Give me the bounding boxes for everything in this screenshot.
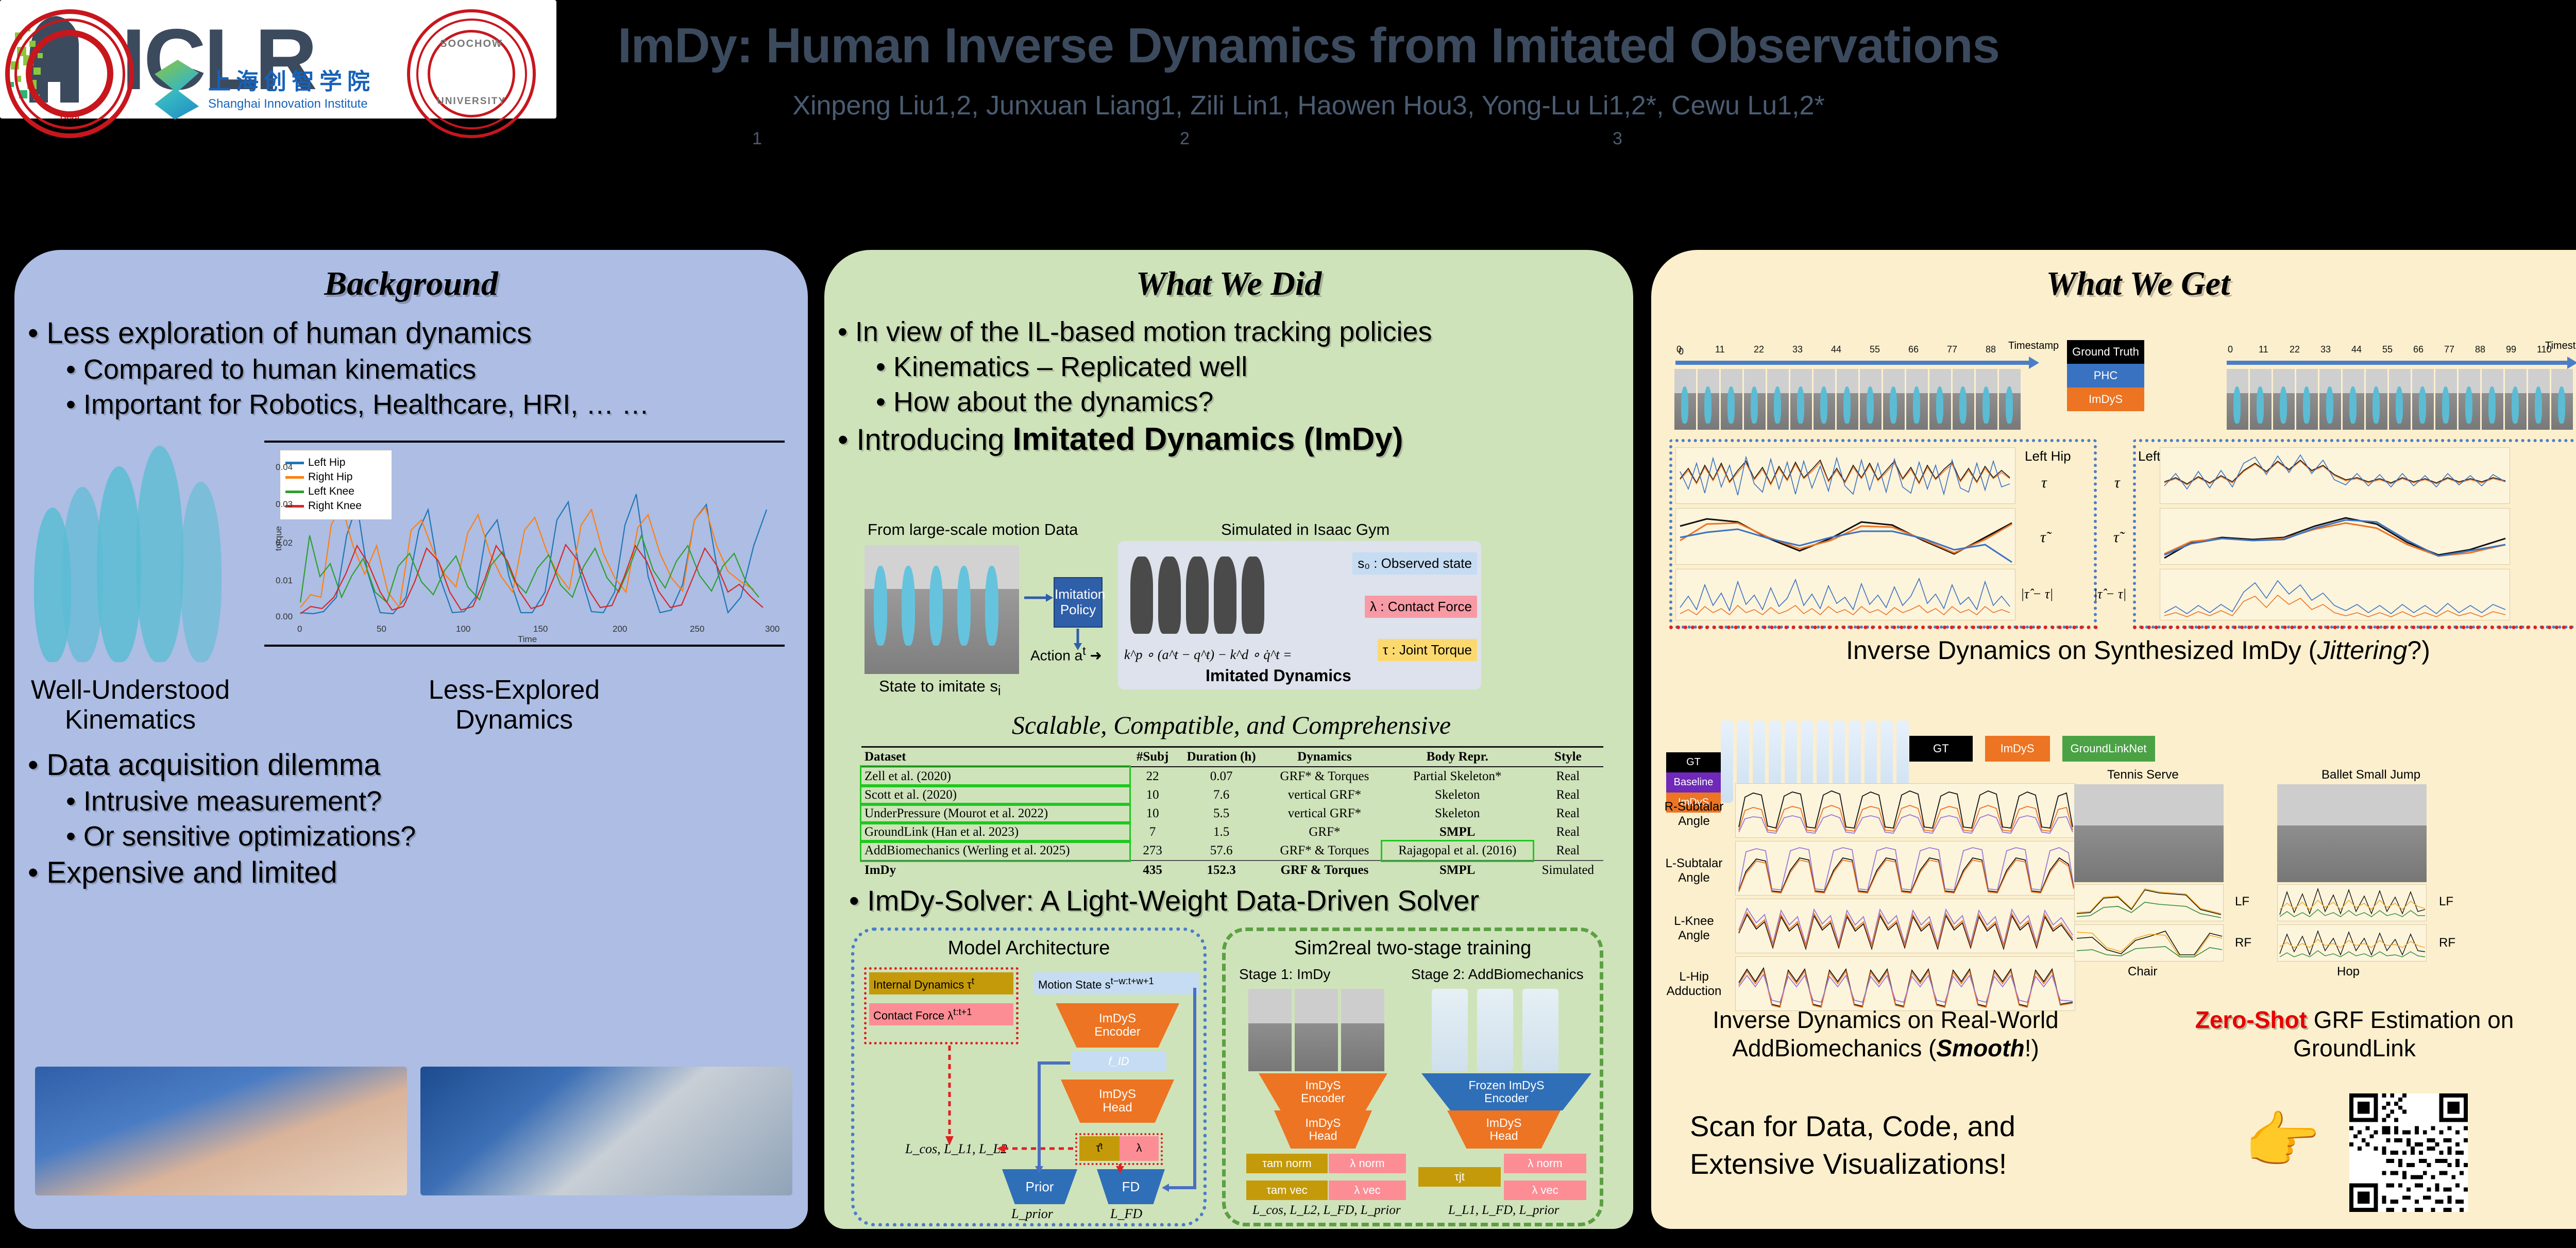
stage2-output-box: λ norm <box>1504 1154 1586 1173</box>
synthesized-caption: Inverse Dynamics on Synthesized ImDy (Ji… <box>1731 635 2545 666</box>
zero-shot-caption-line1: Zero-Shot GRF Estimation on <box>2107 1006 2576 1034</box>
soochow-logo-top: SOOCHOW <box>407 38 536 50</box>
measurement-photos <box>35 1067 792 1195</box>
timestamp-tick: 99 <box>2506 344 2516 355</box>
stage1-head-trapezoid: ImDyS Head <box>1274 1110 1372 1149</box>
stage2-head-line-2: Head <box>1490 1129 1518 1142</box>
column-header: Duration (h) <box>1176 747 1267 767</box>
zero-shot-caption: Zero-Shot GRF Estimation on GroundLink <box>2107 1006 2576 1063</box>
legend-item: Right Knee <box>285 500 386 512</box>
legend-gt: GT <box>1666 752 1721 772</box>
state-label-sub: i <box>998 684 1001 698</box>
chart-ballet-lf <box>2277 884 2427 921</box>
what-we-did-bullet-list: In view of the IL-based motion tracking … <box>824 316 1633 458</box>
affiliation-3: 3 <box>1613 129 1622 149</box>
sim2real-title: Sim2real two-stage training <box>1226 937 1600 959</box>
x-tick-label: 50 <box>377 624 386 634</box>
dynamics-caption: Less-Explored Dynamics <box>257 675 772 735</box>
list-item: Data acquisition dilemma <box>28 748 808 782</box>
chart-legend: Left Hip Right Hip Left Knee Right Knee <box>280 450 392 520</box>
cell-body-repr: Skeleton <box>1382 804 1533 823</box>
cell-style: Simulated <box>1533 861 1603 880</box>
y-tick-label: 0.01 <box>276 576 293 586</box>
stage1-output-box: λ norm <box>1329 1154 1406 1173</box>
stage-2-frames <box>1432 989 1558 1071</box>
timestamp-tick: 77 <box>1947 344 1957 355</box>
row-label-tau-tilde: τ̃ <box>2040 529 2046 546</box>
grf-row-label-lf: LF <box>2439 895 2453 909</box>
stage1-head-line-2: Head <box>1309 1129 1337 1142</box>
what-we-get-panel-title: What We Get <box>1651 264 2576 303</box>
motion-strip-right <box>2227 369 2573 430</box>
grf-row-label-rf: RF <box>2235 936 2251 950</box>
cell-subj: 273 <box>1129 841 1176 861</box>
angle-label-l-knee: L-Knee Angle <box>1663 914 1725 942</box>
real-caption-prefix: AddBiomechanics ( <box>1732 1035 1936 1061</box>
angle-label-l-subtalar: L-Subtalar Angle <box>1663 856 1725 885</box>
table-row: AddBiomechanics (Werling et al. 2025) 27… <box>861 841 1603 861</box>
poster-header: 1896 上海创智学院 Shanghai Innovation Institut… <box>0 0 2576 227</box>
intrusive-measurement-photo <box>35 1067 407 1195</box>
list-item: Kinematics – Replicated well <box>876 351 1633 383</box>
scan-callout-text: Scan for Data, Code, and Extensive Visua… <box>1690 1108 2215 1183</box>
legend-imdys: ImDyS <box>2067 387 2144 411</box>
stage2-loss-label: L_L1, L_FD, L_prior <box>1448 1203 1559 1218</box>
dataset-comparison-table: Dataset #Subj Duration (h) Dynamics Body… <box>861 746 1603 880</box>
page-title: ImDy: Human Inverse Dynamics from Imitat… <box>546 18 2071 74</box>
introducing-prefix: Introducing <box>856 423 1012 457</box>
cell-subj: 22 <box>1129 767 1176 786</box>
legend-imdys: ImDyS <box>1985 736 2050 762</box>
imdy-pipeline-diagram: From large-scale motion Data Simulated i… <box>860 515 1602 696</box>
cell-style: Real <box>1533 786 1603 804</box>
isaac-gym-simulation-box: s₀ : Observed state λ : Contact Force τ … <box>1118 541 1481 689</box>
cell-style: Real <box>1533 841 1603 861</box>
pointing-hand-icon: 👉 <box>2244 1105 2320 1177</box>
row-label-tau: τ <box>2114 474 2120 492</box>
timestamp-tick: 77 <box>2444 344 2454 355</box>
stage2-head-trapezoid: ImDyS Head <box>1447 1110 1561 1149</box>
scan-line-2: Extensive Visualizations! <box>1690 1145 2215 1183</box>
kinematics-caption: Well-Understood Kinematics <box>20 675 241 735</box>
timestamp-tick: 55 <box>2382 344 2393 355</box>
cell-dataset: AddBiomechanics (Werling et al. 2025) <box>861 841 1129 861</box>
y-axis-label: torque <box>274 526 284 551</box>
policy-line-2: Policy <box>1055 602 1101 618</box>
table-row: Zell et al. (2020) 22 0.07 GRF* & Torque… <box>861 767 1603 786</box>
real-caption-em: Smooth <box>1937 1035 2025 1061</box>
table-row: GroundLink (Han et al. 2023) 7 1.5 GRF* … <box>861 823 1603 841</box>
timeline-right-labels: 0112233445566778899110 <box>2226 344 2576 360</box>
cell-body-repr: SMPL <box>1382 823 1533 841</box>
stage2-head-line-1: ImDyS <box>1486 1117 1522 1129</box>
red-divider-right <box>2133 626 2576 629</box>
timestamp-tick: 0 <box>1676 344 1682 355</box>
timestamp-tick: 33 <box>1792 344 1803 355</box>
cell-style: Real <box>1533 823 1603 841</box>
y-tick-label: 0.03 <box>276 499 293 510</box>
motion-data-image <box>865 545 1019 674</box>
stage1-encoder-line-1: ImDyS <box>1306 1079 1341 1092</box>
cell-subj: 10 <box>1129 786 1176 804</box>
list-item: Or sensitive optimizations? <box>66 820 808 852</box>
left-hip-label: Left Hip <box>2025 448 2071 464</box>
real-caption-suffix: !) <box>2025 1035 2039 1061</box>
background-panel-title: Background <box>14 264 808 303</box>
cell-dynamics: vertical GRF* <box>1267 804 1382 823</box>
cell-dataset: GroundLink (Han et al. 2023) <box>861 823 1129 841</box>
chart-l-hip-adduction <box>1735 956 2075 1011</box>
method-legend-groundlink: GT ImDyS GroundLinkNet <box>1909 736 2155 762</box>
background-figures: Left Hip Right Hip Left Knee Right Knee … <box>25 435 798 678</box>
stage2-encoder-line-1: Frozen ImDyS <box>1469 1079 1545 1092</box>
state-label: State to imitate s <box>879 677 998 695</box>
solver-section-title: ImDy-Solver: A Light-Weight Data-Driven … <box>849 884 1479 917</box>
action-sup: t <box>1082 644 1086 657</box>
chart-ballet-rf <box>2277 924 2427 962</box>
chart-left-hip-tau <box>1675 447 2015 504</box>
table-row-imdy: ImDy 435 152.3 GRF & Torques SMPL Simula… <box>861 861 1603 880</box>
list-item: In view of the IL-based motion tracking … <box>838 316 1633 348</box>
timestamp-tick: 22 <box>1754 344 1764 355</box>
grf-tile-title-ballet: Ballet Small Jump <box>2321 768 2420 782</box>
cell-duration: 5.5 <box>1176 804 1267 823</box>
zero-shot-caption-line2: GroundLink <box>2107 1034 2576 1063</box>
timestamp-tick: 55 <box>1870 344 1880 355</box>
cell-duration: 7.6 <box>1176 786 1267 804</box>
timestamp-tick: 33 <box>2320 344 2331 355</box>
column-header: Style <box>1533 747 1603 767</box>
cell-body-repr: Rajagopal et al. (2016) <box>1382 841 1533 861</box>
y-tick-label: 0.04 <box>276 462 293 473</box>
cell-dataset: Scott et al. (2020) <box>861 786 1129 804</box>
column-header: Dynamics <box>1267 747 1382 767</box>
background-panel: Background Less exploration of human dyn… <box>14 250 808 1229</box>
soochow-logo-bottom: UNIVERSITY <box>407 96 536 107</box>
x-axis-label: Time <box>518 634 537 645</box>
column-header: #Subj <box>1129 747 1176 767</box>
list-item: Important for Robotics, Healthcare, HRI,… <box>66 389 808 420</box>
timestamp-tick: 0 <box>2228 344 2233 355</box>
chart-l-knee <box>1735 899 2075 953</box>
cell-subj: 10 <box>1129 804 1176 823</box>
chart-left-thorax-error <box>2160 569 2510 620</box>
list-item: Expensive and limited <box>28 855 808 890</box>
affiliation-1: 1 <box>752 129 762 149</box>
imitation-policy-box: Imitation Policy <box>1054 577 1103 628</box>
affiliation-2: 2 <box>1180 129 1190 149</box>
stage1-output-box: τam vec <box>1246 1180 1328 1200</box>
list-item: Compared to human kinematics <box>66 353 808 385</box>
legend-item: Left Hip <box>285 457 386 469</box>
method-legend-top: Ground Truth PHC ImDyS <box>2067 340 2145 411</box>
cell-style: Real <box>1533 767 1603 786</box>
treadmill-lab-photo <box>420 1067 792 1195</box>
background-bullet-list-1: Less exploration of human dynamics Compa… <box>14 316 808 420</box>
x-tick-label: 150 <box>533 624 548 634</box>
stage1-output-box: λ vec <box>1329 1180 1406 1200</box>
grf-tile-title-chair: Chair <box>2128 965 2157 979</box>
sjtu-logo-year: 1896 <box>5 112 134 121</box>
cell-dynamics: GRF* & Torques <box>1267 767 1382 786</box>
legend-item: Right Hip <box>285 471 386 483</box>
x-tick-label: 100 <box>456 624 470 634</box>
sii-logo-en: Shanghai Innovation Institute <box>208 97 368 111</box>
observed-state-chip: s₀ : Observed state <box>1352 552 1477 575</box>
grf-tile-title-hop: Hop <box>2337 965 2360 979</box>
timeline-left-labels: 01122334455667788 <box>1674 344 2045 360</box>
stage1-output-box: τam norm <box>1246 1154 1328 1173</box>
sii-logo-cn: 上海创智学院 <box>208 63 375 96</box>
legend-label: Right Knee <box>308 500 362 512</box>
x-tick-label: 200 <box>613 624 627 634</box>
chart-left-thorax-tau <box>2160 447 2510 504</box>
introducing-bold: Imitated Dynamics (ImDy) <box>1013 421 1403 457</box>
list-item: Less exploration of human dynamics <box>28 316 808 350</box>
cell-duration: 0.07 <box>1176 767 1267 786</box>
legend-baseline: Baseline <box>1666 772 1721 792</box>
architecture-arrows-icon <box>855 931 1210 1230</box>
timestamp-tick: 66 <box>1908 344 1919 355</box>
qr-code-icon <box>2349 1093 2468 1212</box>
synth-caption-suffix: ?) <box>2407 636 2430 665</box>
timeline-arrow-right-icon <box>2227 361 2569 365</box>
timeline-arrow-left-icon <box>1675 361 2031 365</box>
stage2-encoder-line-2: Encoder <box>1484 1092 1529 1105</box>
grf-tile-title-tennis: Tennis Serve <box>2107 768 2179 782</box>
synth-caption-em: Jittering <box>2317 636 2407 665</box>
cell-dynamics: GRF & Torques <box>1267 861 1382 880</box>
legend-label: Left Hip <box>308 457 345 469</box>
cell-duration: 57.6 <box>1176 841 1267 861</box>
timestamp-label-left: Timestamp <box>2008 340 2059 352</box>
sii-mark-icon <box>155 60 199 120</box>
row-label-tau-err: |τ̂ − τ| <box>2021 586 2053 602</box>
author-list: Xinpeng Liu1,2, Junxuan Liang1, Zili Lin… <box>546 90 2071 121</box>
cell-dynamics: GRF* & Torques <box>1267 841 1382 861</box>
action-label: Action at ➜ <box>1030 644 1102 664</box>
stage-2-label: Stage 2: AddBiomechanics <box>1411 966 1584 983</box>
imitated-dynamics-label: Imitated Dynamics <box>1206 666 1351 685</box>
stage1-encoder-line-2: Encoder <box>1301 1092 1345 1105</box>
row-label-tau-err: |τ̂ − τ| <box>2094 586 2126 602</box>
real-world-caption-line2: AddBiomechanics (Smooth!) <box>1674 1034 2097 1063</box>
zero-shot-rest: GRF Estimation on <box>2307 1006 2514 1033</box>
cell-dataset: UnderPressure (Mourot et al. 2022) <box>861 804 1129 823</box>
background-bullet-list-2: Data acquisition dilemma Intrusive measu… <box>14 745 808 893</box>
stage1-head-line-1: ImDyS <box>1306 1117 1341 1129</box>
stage1-loss-label: L_cos, L_L2, L_FD, L_prior <box>1252 1203 1401 1218</box>
stage1-encoder-trapezoid: ImDyS Encoder <box>1259 1073 1387 1110</box>
cell-body-repr: Partial Skeleton* <box>1382 767 1533 786</box>
row-label-tau-tilde: τ̃ <box>2113 529 2119 546</box>
chart-tennis-rf <box>2074 924 2224 962</box>
cell-duration: 1.5 <box>1176 823 1267 841</box>
timestamp-tick: 22 <box>2290 344 2300 355</box>
cell-subj: 7 <box>1129 823 1176 841</box>
tennis-serve-render <box>2074 784 2224 882</box>
stage2-output-box: τjt <box>1418 1167 1501 1187</box>
cell-dataset: Zell et al. (2020) <box>861 767 1129 786</box>
timestamp-tick: 66 <box>2413 344 2424 355</box>
pipeline-right-caption: Simulated in Isaac Gym <box>1221 520 1389 539</box>
chart-tennis-lf <box>2074 884 2224 921</box>
x-tick-label: 250 <box>690 624 704 634</box>
sjtu-logo: 1896 <box>5 9 134 138</box>
legend-ground-truth: Ground Truth <box>2067 340 2144 364</box>
cell-body-repr: SMPL <box>1382 861 1533 880</box>
legend-item: Left Knee <box>285 485 386 498</box>
sim2real-training-box: Sim2real two-stage training Stage 1: ImD… <box>1222 927 1603 1226</box>
model-architecture-box: Model Architecture Internal Dynamics τt … <box>851 927 1207 1226</box>
motion-strip-left <box>1674 369 2021 430</box>
arrow-to-policy-icon <box>1024 593 1053 603</box>
pd-control-equation: k^p ∘ (a^t − q^t) − k^d ∘ q̇^t = <box>1124 647 1292 663</box>
stage-1-label: Stage 1: ImDy <box>1239 966 1330 983</box>
chart-left-hip-tau-tilde <box>1675 508 2015 565</box>
timestamp-tick: 44 <box>2351 344 2362 355</box>
timestamp-tick: 88 <box>2475 344 2485 355</box>
chart-r-subtalar <box>1735 783 2075 838</box>
chart-left-hip-error <box>1675 569 2015 620</box>
red-divider-left <box>1669 626 2098 629</box>
y-tick-label: 0.00 <box>276 612 293 622</box>
pipeline-state-to-imitate: State to imitate si <box>879 677 1001 699</box>
real-world-caption: Inverse Dynamics on Real-World AddBiomec… <box>1674 1006 2097 1063</box>
x-tick-label: 300 <box>765 624 779 634</box>
what-we-did-panel-title: What We Did <box>824 264 1633 303</box>
legend-label: Left Knee <box>308 485 354 498</box>
policy-line-1: Imitation <box>1055 587 1101 602</box>
grf-row-label-lf: LF <box>2235 895 2249 909</box>
pipeline-left-caption: From large-scale motion Data <box>868 520 1078 539</box>
legend-groundlinknet: GroundLinkNet <box>2062 736 2155 762</box>
cell-style: Real <box>1533 804 1603 823</box>
stage-1-frames <box>1248 989 1384 1071</box>
real-world-caption-line1: Inverse Dynamics on Real-World <box>1674 1006 2097 1034</box>
angle-label-l-hip: L-Hip Adduction <box>1663 970 1725 998</box>
timestamp-tick: 44 <box>1831 344 1841 355</box>
ballet-jump-render <box>2277 784 2427 882</box>
kinematics-silhouettes-image <box>30 441 246 662</box>
table-row: UnderPressure (Mourot et al. 2022) 10 5.… <box>861 804 1603 823</box>
cell-body-repr: Skeleton <box>1382 786 1533 804</box>
row-label-tau: τ <box>2041 474 2047 492</box>
angle-label-r-subtalar: R-Subtalar Angle <box>1663 800 1725 828</box>
table-row: Scott et al. (2020) 10 7.6 vertical GRF*… <box>861 786 1603 804</box>
table-section-title: Scalable, Compatible, and Comprehensive <box>850 710 1613 740</box>
timestamp-tick: 11 <box>2259 344 2268 355</box>
synth-caption-prefix: Inverse Dynamics on Synthesized ImDy ( <box>1846 636 2317 665</box>
timestamp-tick: 11 <box>1715 344 1725 355</box>
timestamp-label-right: Timestamp <box>2545 340 2576 352</box>
column-header: Dataset <box>861 747 1129 767</box>
cell-duration: 152.3 <box>1176 861 1267 880</box>
cell-dynamics: GRF* <box>1267 823 1382 841</box>
list-item-introducing: Introducing Imitated Dynamics (ImDy) <box>838 421 1633 458</box>
timestamp-tick: 88 <box>1986 344 1996 355</box>
chart-left-thorax-tau-tilde <box>2160 508 2510 565</box>
soochow-university-logo: SOOCHOW UNIVERSITY <box>407 9 536 138</box>
shanghai-innovation-institute-logo: 上海创智学院 Shanghai Innovation Institute <box>155 57 397 124</box>
list-item: How about the dynamics? <box>876 386 1633 418</box>
joint-torque-chip: τ : Joint Torque <box>1378 639 1477 661</box>
scan-line-1: Scan for Data, Code, and <box>1690 1108 2215 1145</box>
cell-subj: 435 <box>1129 861 1176 880</box>
cell-dataset: ImDy <box>861 861 1129 880</box>
zero-shot-highlight: Zero-Shot <box>2195 1006 2307 1033</box>
column-header: Body Repr. <box>1382 747 1533 767</box>
cell-dynamics: vertical GRF* <box>1267 786 1382 804</box>
stage2-output-box: λ vec <box>1504 1180 1586 1200</box>
legend-label: Right Hip <box>308 471 352 483</box>
legend-gt: GT <box>1909 736 1973 762</box>
arrow-policy-down-icon <box>1073 629 1083 650</box>
affiliation-markers: 1 2 3 <box>546 129 2071 149</box>
table-header-row: Dataset #Subj Duration (h) Dynamics Body… <box>861 747 1603 767</box>
legend-phc: PHC <box>2067 364 2144 387</box>
grf-row-label-rf: RF <box>2439 936 2455 950</box>
contact-force-chip: λ : Contact Force <box>1365 596 1477 618</box>
stage2-frozen-encoder-trapezoid: Frozen ImDyS Encoder <box>1421 1073 1591 1110</box>
qr-code[interactable] <box>2349 1093 2468 1212</box>
chart-l-subtalar <box>1735 841 2075 896</box>
torque-line-chart: Left Hip Right Hip Left Knee Right Knee … <box>264 441 785 647</box>
list-item: Intrusive measurement? <box>66 785 808 817</box>
x-tick-label: 0 <box>297 624 302 634</box>
